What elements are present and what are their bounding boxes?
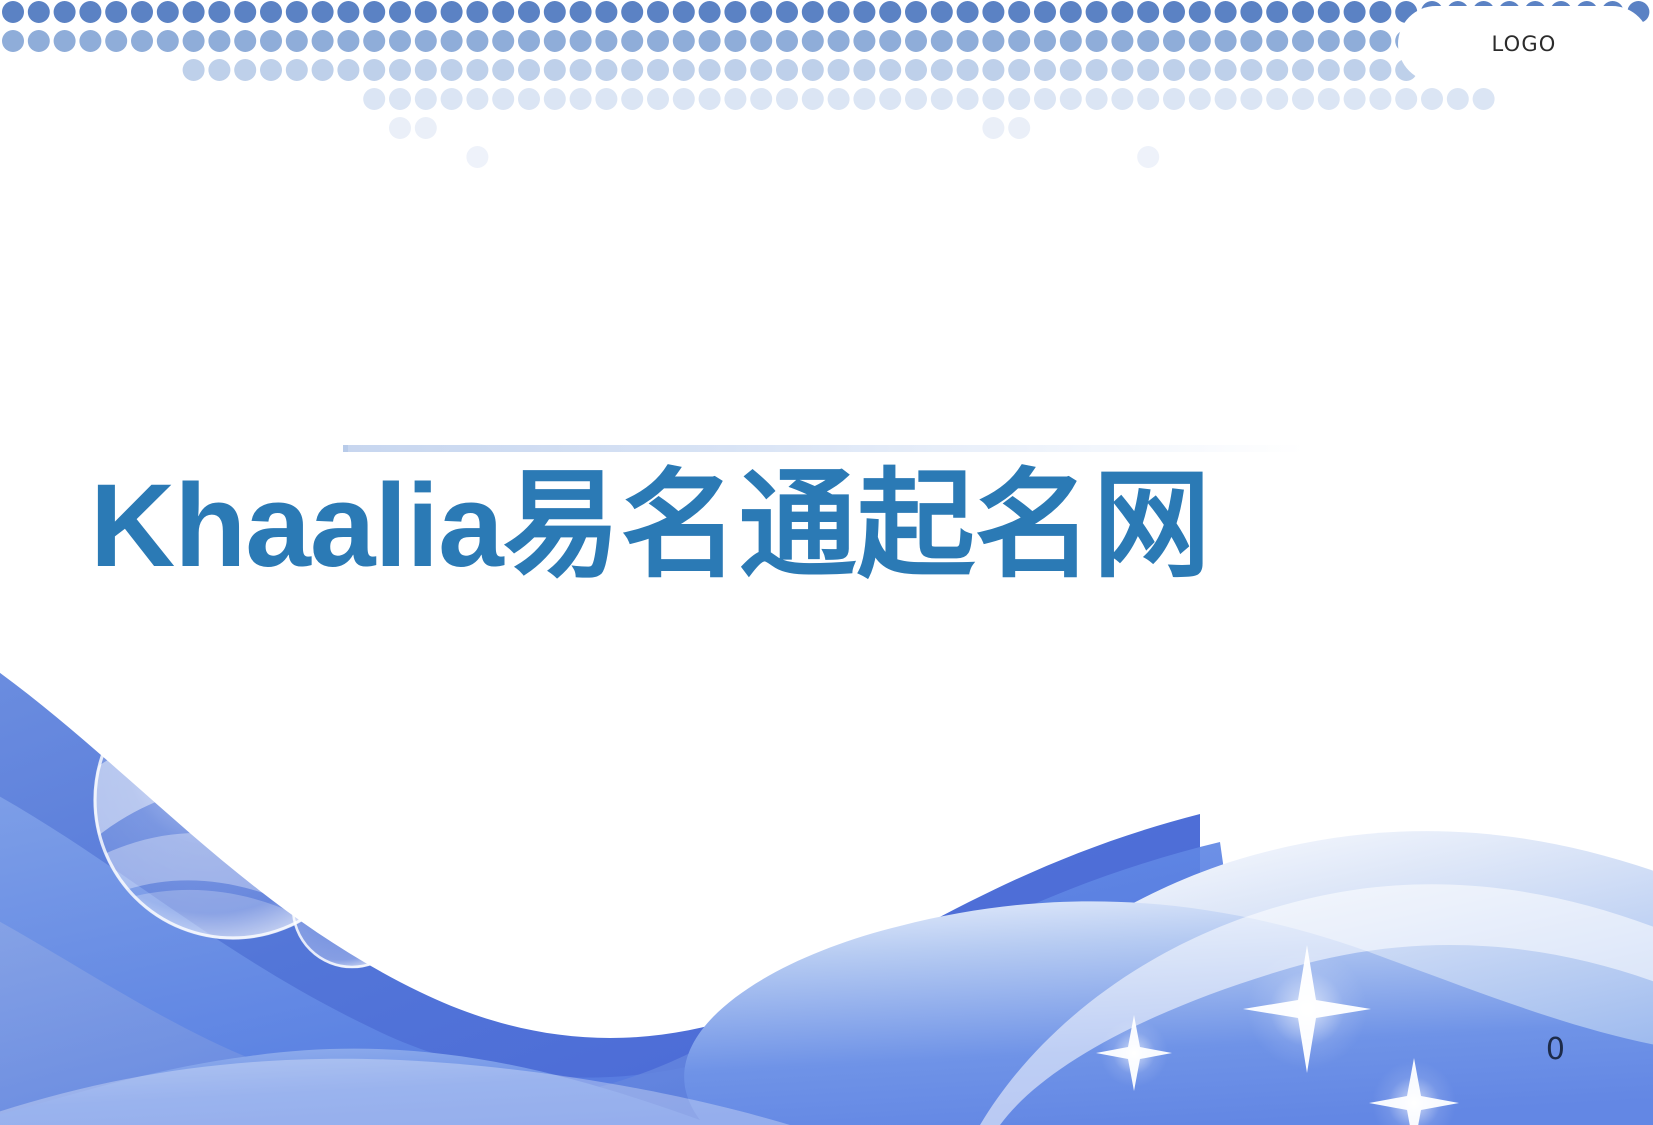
halftone-dot: [1240, 30, 1262, 52]
halftone-dot: [157, 1, 179, 23]
halftone-dot: [389, 59, 411, 81]
halftone-dot: [699, 59, 721, 81]
halftone-dot: [260, 59, 282, 81]
halftone-dot: [982, 117, 1004, 139]
halftone-dot: [389, 1, 411, 23]
halftone-dot: [982, 1, 1004, 23]
halftone-dot: [621, 88, 643, 110]
halftone-dot: [570, 1, 592, 23]
halftone-dot: [570, 88, 592, 110]
halftone-dot: [28, 30, 50, 52]
halftone-dot: [982, 30, 1004, 52]
halftone-dot: [1137, 59, 1159, 81]
halftone-dot: [1060, 88, 1082, 110]
halftone-dot: [28, 1, 50, 23]
halftone-dot: [699, 30, 721, 52]
halftone-dot: [1318, 59, 1340, 81]
halftone-dot: [1344, 59, 1366, 81]
halftone-dot: [415, 117, 437, 139]
halftone-dot: [544, 88, 566, 110]
halftone-dot: [544, 30, 566, 52]
halftone-dot: [1086, 59, 1108, 81]
halftone-dot: [750, 30, 772, 52]
halftone-dot: [957, 59, 979, 81]
halftone-dot: [1266, 88, 1288, 110]
halftone-dot: [1060, 59, 1082, 81]
halftone-dot: [363, 30, 385, 52]
page-title: Khaalia易名通起名网: [90, 455, 1570, 599]
halftone-dot: [802, 59, 824, 81]
slide-canvas: LOGO: [0, 0, 1653, 1125]
halftone-dot: [776, 30, 798, 52]
halftone-dot: [337, 59, 359, 81]
halftone-dot: [828, 59, 850, 81]
halftone-dot: [389, 30, 411, 52]
halftone-dot: [1189, 30, 1211, 52]
halftone-dot: [544, 59, 566, 81]
halftone-dot: [853, 30, 875, 52]
halftone-dot: [1473, 88, 1495, 110]
halftone-dot: [337, 1, 359, 23]
halftone-dot: [1369, 88, 1391, 110]
halftone-dot: [1215, 1, 1237, 23]
halftone-dot: [776, 1, 798, 23]
halftone-dot: [1292, 30, 1314, 52]
halftone-dot: [621, 59, 643, 81]
halftone-dot: [647, 59, 669, 81]
halftone-dot: [595, 88, 617, 110]
halftone-dot: [441, 30, 463, 52]
halftone-dot: [1318, 1, 1340, 23]
halftone-dot: [466, 88, 488, 110]
halftone-dot: [673, 30, 695, 52]
halftone-dot: [1266, 30, 1288, 52]
halftone-dot: [1318, 88, 1340, 110]
halftone-dot: [673, 59, 695, 81]
halftone-dot: [776, 59, 798, 81]
halftone-dot: [699, 88, 721, 110]
halftone-dot: [647, 30, 669, 52]
halftone-dot: [1266, 59, 1288, 81]
halftone-dot: [337, 30, 359, 52]
halftone-dot: [1034, 88, 1056, 110]
halftone-dot: [802, 88, 824, 110]
halftone-dot: [957, 88, 979, 110]
halftone-dot: [1344, 30, 1366, 52]
halftone-dot: [363, 59, 385, 81]
halftone-dot: [312, 59, 334, 81]
halftone-dot: [1034, 59, 1056, 81]
halftone-dot: [54, 30, 76, 52]
halftone-dot: [1137, 30, 1159, 52]
halftone-dot: [492, 59, 514, 81]
halftone-dot: [1395, 88, 1417, 110]
halftone-dot: [105, 30, 127, 52]
halftone-dot: [879, 88, 901, 110]
halftone-dot: [1111, 1, 1133, 23]
halftone-dot: [441, 59, 463, 81]
halftone-dot: [1292, 1, 1314, 23]
halftone-dot: [518, 30, 540, 52]
halftone-dot: [492, 88, 514, 110]
halftone-dot: [518, 88, 540, 110]
halftone-dot: [905, 59, 927, 81]
halftone-dot: [518, 1, 540, 23]
halftone-dot: [234, 59, 256, 81]
halftone-dot: [183, 1, 205, 23]
halftone-dot: [1266, 1, 1288, 23]
halftone-dot: [1111, 88, 1133, 110]
halftone-dot: [982, 88, 1004, 110]
halftone-dot: [905, 1, 927, 23]
halftone-dot: [1189, 1, 1211, 23]
halftone-dot: [699, 1, 721, 23]
halftone-dot: [1163, 88, 1185, 110]
halftone-dot: [931, 30, 953, 52]
halftone-dot: [79, 30, 101, 52]
halftone-dot: [957, 30, 979, 52]
halftone-dot: [1240, 88, 1262, 110]
page-title-latin: Khaalia: [90, 460, 503, 592]
halftone-dot: [828, 1, 850, 23]
halftone-dot: [1189, 88, 1211, 110]
halftone-dot: [621, 30, 643, 52]
halftone-dot: [621, 1, 643, 23]
halftone-dot: [389, 88, 411, 110]
halftone-dot: [157, 30, 179, 52]
halftone-dot: [105, 1, 127, 23]
halftone-dot: [234, 30, 256, 52]
halftone-dot: [1034, 1, 1056, 23]
halftone-dot: [1292, 59, 1314, 81]
logo-placeholder[interactable]: LOGO: [1398, 6, 1650, 82]
halftone-dot: [853, 88, 875, 110]
halftone-dot: [1369, 1, 1391, 23]
halftone-dot: [466, 30, 488, 52]
halftone-dot: [776, 88, 798, 110]
halftone-dot: [54, 1, 76, 23]
halftone-dot: [982, 59, 1004, 81]
logo-label: LOGO: [1491, 32, 1556, 56]
halftone-dot: [286, 1, 308, 23]
halftone-dot: [1163, 30, 1185, 52]
halftone-dot: [518, 59, 540, 81]
halftone-dot: [647, 88, 669, 110]
halftone-dot: [673, 88, 695, 110]
halftone-dot: [415, 88, 437, 110]
halftone-dot: [724, 1, 746, 23]
halftone-dot: [802, 30, 824, 52]
halftone-dot: [1163, 1, 1185, 23]
halftone-dot: [131, 30, 153, 52]
halftone-dot: [312, 30, 334, 52]
halftone-dot: [905, 30, 927, 52]
halftone-dot: [828, 30, 850, 52]
halftone-dot: [905, 88, 927, 110]
halftone-dot: [1086, 88, 1108, 110]
halftone-dot: [724, 59, 746, 81]
halftone-dot: [183, 30, 205, 52]
halftone-dot: [1060, 1, 1082, 23]
halftone-dot: [208, 30, 230, 52]
halftone-dot: [957, 1, 979, 23]
halftone-dot: [1344, 1, 1366, 23]
halftone-dot: [1086, 30, 1108, 52]
halftone-dot: [312, 1, 334, 23]
small-bubble: [292, 848, 412, 968]
halftone-dot: [1111, 59, 1133, 81]
halftone-dot: [208, 59, 230, 81]
halftone-dot: [931, 59, 953, 81]
halftone-dot: [1215, 30, 1237, 52]
halftone-dot: [570, 30, 592, 52]
halftone-dot: [879, 59, 901, 81]
halftone-dot: [1111, 30, 1133, 52]
halftone-dot: [1163, 59, 1185, 81]
halftone-dot: [234, 1, 256, 23]
halftone-dot: [828, 88, 850, 110]
halftone-dot: [466, 1, 488, 23]
halftone-dot: [1008, 88, 1030, 110]
halftone-dot: [415, 30, 437, 52]
halftone-dot: [260, 30, 282, 52]
halftone-dot: [879, 30, 901, 52]
halftone-dot: [466, 146, 488, 168]
halftone-dot: [724, 30, 746, 52]
halftone-dot: [1215, 59, 1237, 81]
halftone-dot: [286, 30, 308, 52]
decorative-wave-artwork: [0, 600, 1653, 1125]
halftone-dot: [750, 59, 772, 81]
halftone-dot: [1008, 1, 1030, 23]
halftone-dot: [1086, 1, 1108, 23]
halftone-dot: [853, 1, 875, 23]
halftone-dot: [492, 30, 514, 52]
halftone-dot: [595, 1, 617, 23]
halftone-dot: [931, 88, 953, 110]
halftone-dot: [1008, 59, 1030, 81]
halftone-dot: [1240, 59, 1262, 81]
halftone-dot: [1292, 88, 1314, 110]
page-title-cjk: 易名通起名网: [503, 460, 1211, 592]
halftone-dot: [750, 1, 772, 23]
halftone-dot: [415, 59, 437, 81]
halftone-dot: [544, 1, 566, 23]
halftone-dot: [2, 1, 24, 23]
halftone-dot: [492, 1, 514, 23]
halftone-dot: [1344, 88, 1366, 110]
halftone-dot: [570, 59, 592, 81]
halftone-dot: [363, 1, 385, 23]
halftone-dot: [79, 1, 101, 23]
page-number: 0: [1546, 1032, 1565, 1067]
halftone-dot: [1318, 30, 1340, 52]
halftone-dot: [1008, 117, 1030, 139]
halftone-dot: [1137, 88, 1159, 110]
halftone-dot: [724, 88, 746, 110]
title-divider-cap: [343, 445, 348, 452]
halftone-dot: [673, 1, 695, 23]
halftone-dot: [441, 1, 463, 23]
halftone-dot: [595, 59, 617, 81]
halftone-dot: [1189, 59, 1211, 81]
halftone-dot: [931, 1, 953, 23]
halftone-dot: [1008, 30, 1030, 52]
halftone-dot: [1447, 88, 1469, 110]
halftone-dot: [750, 88, 772, 110]
halftone-dot: [595, 30, 617, 52]
halftone-dot: [1369, 59, 1391, 81]
halftone-dot: [1034, 30, 1056, 52]
halftone-dot: [647, 1, 669, 23]
halftone-dot: [1421, 88, 1443, 110]
halftone-dot: [853, 59, 875, 81]
halftone-dot: [802, 1, 824, 23]
halftone-dot: [363, 88, 385, 110]
halftone-dot: [466, 59, 488, 81]
halftone-dot: [286, 59, 308, 81]
halftone-dot: [415, 1, 437, 23]
halftone-dot: [389, 117, 411, 139]
halftone-dot: [208, 1, 230, 23]
halftone-dot: [260, 1, 282, 23]
halftone-dot: [1137, 1, 1159, 23]
halftone-dot: [1369, 30, 1391, 52]
title-divider-rule: [343, 445, 1305, 452]
halftone-dot: [1215, 88, 1237, 110]
halftone-dot: [131, 1, 153, 23]
halftone-dot: [2, 30, 24, 52]
halftone-dot: [1240, 1, 1262, 23]
halftone-dot: [441, 88, 463, 110]
halftone-dot: [879, 1, 901, 23]
halftone-dot: [1137, 146, 1159, 168]
halftone-dot: [1060, 30, 1082, 52]
halftone-dot: [183, 59, 205, 81]
